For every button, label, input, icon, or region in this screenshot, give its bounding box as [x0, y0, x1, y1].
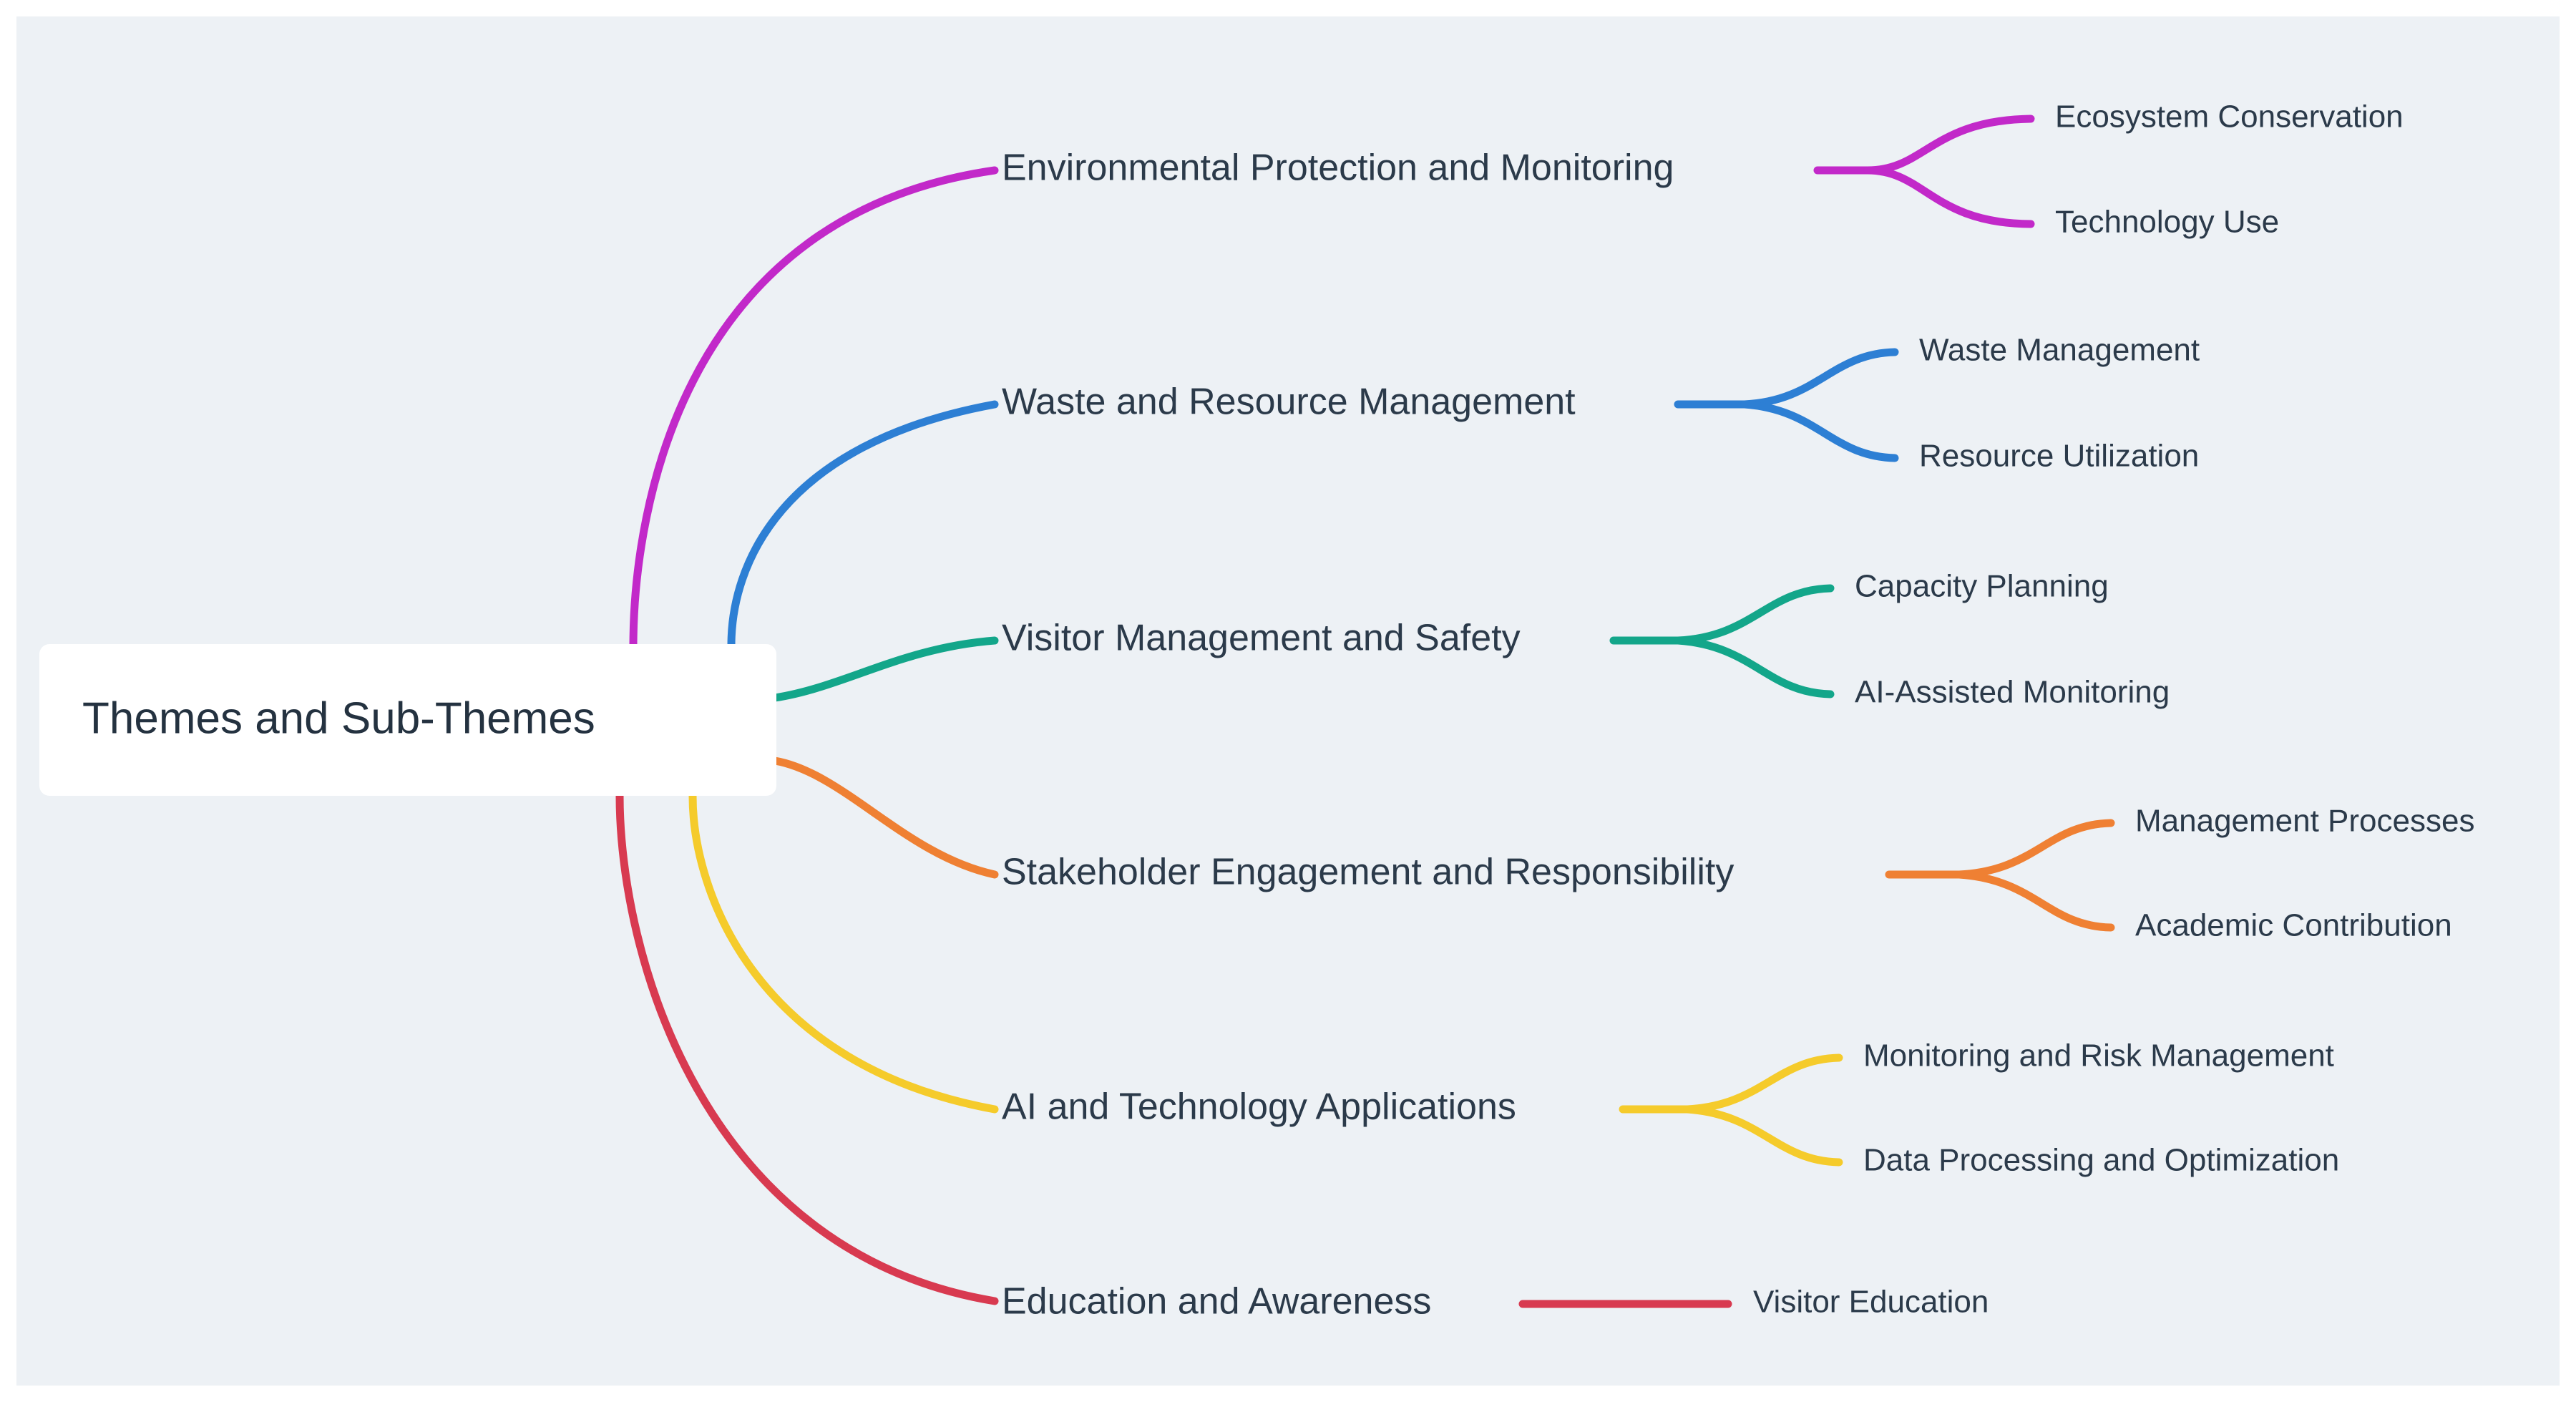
- leaf-label-resource-utilization[interactable]: Resource Utilization: [1919, 439, 2199, 474]
- root-node[interactable]: Themes and Sub-Themes: [39, 644, 776, 796]
- mindmap-svg: Themes and Sub-Themes Environmental Prot…: [0, 0, 2576, 1402]
- edge-root-environmental: [633, 170, 995, 648]
- edge-ai-monitoring: [1687, 1058, 1839, 1109]
- branch-label-waste[interactable]: Waste and Resource Management: [1002, 381, 1576, 423]
- edge-root-ai: [693, 796, 995, 1109]
- edge-ai-dataprocessing: [1687, 1109, 1839, 1162]
- branch-label-visitor[interactable]: Visitor Management and Safety: [1002, 618, 1521, 659]
- leaf-label-management-processes[interactable]: Management Processes: [2135, 804, 2474, 839]
- leaf-label-data-processing-optimization[interactable]: Data Processing and Optimization: [1863, 1143, 2339, 1178]
- leaf-label-visitor-education[interactable]: Visitor Education: [1753, 1285, 1989, 1320]
- branch-label-environmental[interactable]: Environmental Protection and Monitoring: [1002, 147, 1674, 189]
- leaf-label-technology-use[interactable]: Technology Use: [2055, 205, 2279, 240]
- edge-environmental-technology: [1868, 170, 2031, 224]
- leaf-label-waste-management[interactable]: Waste Management: [1919, 333, 2200, 368]
- branch-label-stakeholder[interactable]: Stakeholder Engagement and Responsibilit…: [1002, 852, 1734, 893]
- leaf-label-monitoring-risk-management[interactable]: Monitoring and Risk Management: [1863, 1038, 2334, 1074]
- leaf-label-ecosystem-conservation[interactable]: Ecosystem Conservation: [2055, 99, 2404, 135]
- root-node-label: Themes and Sub-Themes: [82, 693, 595, 743]
- edge-root-stakeholder: [775, 761, 995, 875]
- edge-waste-management: [1745, 352, 1895, 404]
- leaf-label-capacity-planning[interactable]: Capacity Planning: [1855, 569, 2109, 604]
- edge-root-visitor: [775, 641, 995, 698]
- edge-visitor-aiassisted: [1678, 641, 1830, 694]
- branch-label-education[interactable]: Education and Awareness: [1002, 1281, 1431, 1323]
- edge-waste-resource: [1745, 404, 1895, 458]
- leaf-label-academic-contribution[interactable]: Academic Contribution: [2135, 908, 2452, 943]
- edge-visitor-capacity: [1678, 588, 1830, 641]
- leaf-label-ai-assisted-monitoring[interactable]: AI-Assisted Monitoring: [1855, 675, 2170, 710]
- edge-stakeholder-management: [1959, 823, 2111, 875]
- edge-root-education: [620, 796, 995, 1301]
- edge-environmental-ecosystem: [1868, 119, 2031, 170]
- branch-label-ai[interactable]: AI and Technology Applications: [1002, 1086, 1516, 1128]
- edge-stakeholder-academic: [1959, 875, 2111, 928]
- edge-root-waste: [731, 404, 995, 646]
